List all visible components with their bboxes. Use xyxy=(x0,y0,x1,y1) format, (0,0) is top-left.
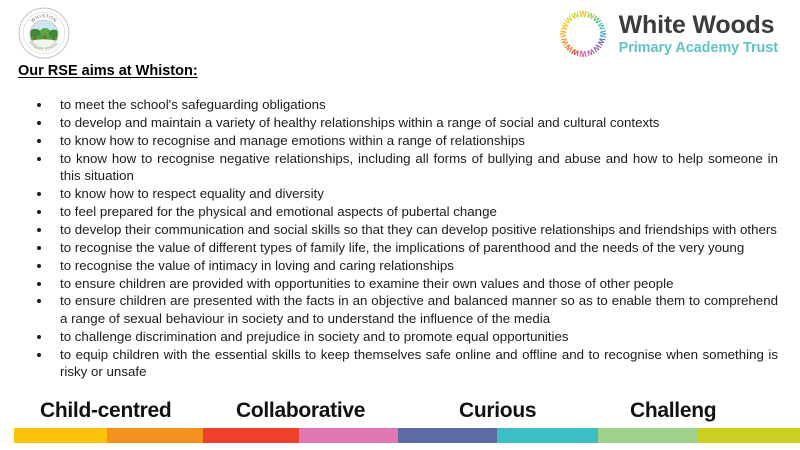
aim-list-item: to know how to recognise negative relati… xyxy=(18,150,778,185)
color-bar-segment-yellow-green xyxy=(697,428,800,443)
aim-list-item: to know how to recognise and manage emot… xyxy=(18,132,778,149)
aim-list-item: to ensure children are provided with opp… xyxy=(18,275,778,292)
value-word: Child-centred xyxy=(40,399,171,423)
aim-list-item: to challenge discrimination and prejudic… xyxy=(18,328,778,345)
color-bar-segment-slate-purple xyxy=(398,428,497,443)
page-title: Our RSE aims at Whiston: xyxy=(18,63,198,79)
rse-aims-list: to meet the school's safeguarding obliga… xyxy=(18,96,778,381)
value-word: Collaborative xyxy=(236,399,365,423)
aim-list-item: to equip children with the essential ski… xyxy=(18,346,778,381)
school-values-row: Child-centredCollaborativeCuriousChallen… xyxy=(0,399,800,425)
trust-name: White Woods xyxy=(619,13,778,38)
white-woods-w-ring-icon: W W W W W W W W W W W W W W W xyxy=(557,8,609,60)
color-bar-segment-yellow xyxy=(14,428,107,443)
aim-list-item: to recognise the value of different type… xyxy=(18,239,778,256)
aim-list-item: to recognise the value of intimacy in lo… xyxy=(18,257,778,274)
value-word: Challeng xyxy=(630,399,716,423)
color-bar-segment-light-green xyxy=(598,428,697,443)
trust-tagline: Primary Academy Trust xyxy=(619,41,778,56)
aim-list-item: to meet the school's safeguarding obliga… xyxy=(18,96,778,113)
color-bar-segment-pink xyxy=(299,428,398,443)
aim-list-item: to develop their communication and socia… xyxy=(18,221,778,238)
color-bar-segment-orange xyxy=(107,428,203,443)
white-woods-trust-logo: W W W W W W W W W W W W W W W xyxy=(557,8,778,60)
aim-list-item: to know how to respect equality and dive… xyxy=(18,185,778,202)
color-bar-segment-red-orange xyxy=(203,428,299,443)
aim-list-item: to feel prepared for the physical and em… xyxy=(18,203,778,220)
page-header: WHISTON PRIMARY SCHOOL W W W W W W W W xyxy=(0,0,800,66)
whiston-school-crest-icon: WHISTON PRIMARY SCHOOL xyxy=(18,7,70,59)
aim-list-item: to develop and maintain a variety of hea… xyxy=(18,114,778,131)
color-bar-segment-teal xyxy=(497,428,598,443)
value-word: Curious xyxy=(459,399,536,423)
aim-list-item: to ensure children are presented with th… xyxy=(18,292,778,327)
values-color-bar xyxy=(14,428,800,443)
